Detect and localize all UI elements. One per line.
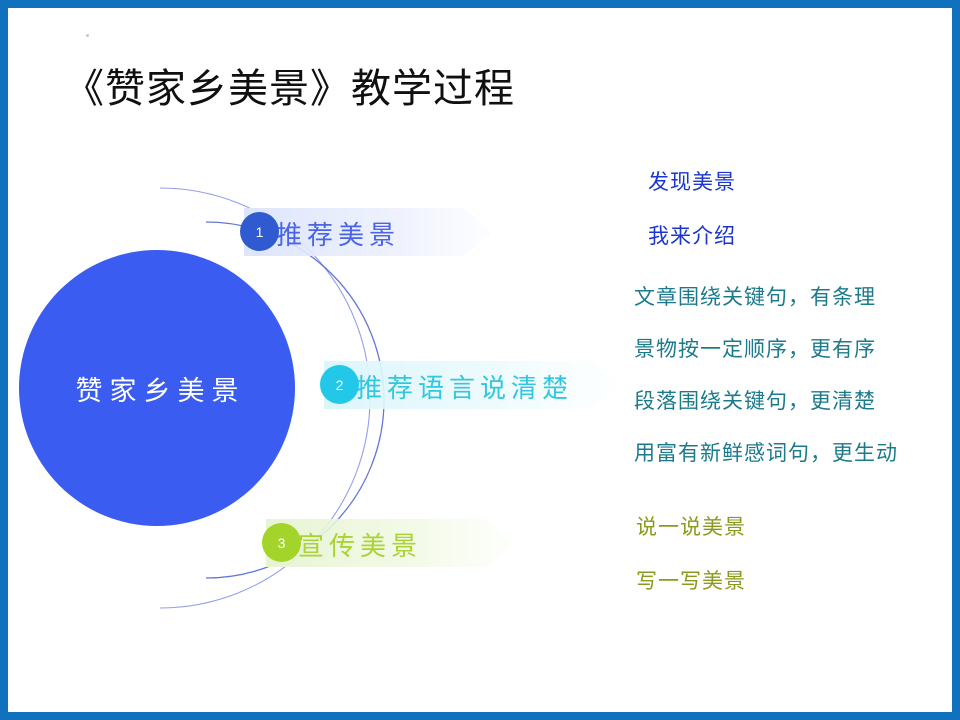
detail-group-3: 说一说美景 写一写美景 bbox=[636, 511, 746, 619]
step-label-1: 推荐美景 bbox=[276, 215, 400, 252]
detail-line: 景物按一定顺序，更有序 bbox=[634, 333, 898, 363]
center-circle-label: 赞家乡美景 bbox=[69, 369, 246, 408]
step-badge-1: 1 bbox=[240, 212, 279, 251]
detail-line: 用富有新鲜感词句，更生动 bbox=[634, 437, 898, 467]
detail-line: 段落围绕关键句，更清楚 bbox=[634, 385, 898, 415]
detail-line: 发现美景 bbox=[648, 166, 736, 196]
center-circle: 赞家乡美景 bbox=[19, 250, 295, 526]
step-label-2: 推荐语言说清楚 bbox=[356, 368, 573, 405]
step-number-3: 3 bbox=[278, 535, 286, 551]
slide-canvas: 《赞家乡美景》教学过程 赞家乡美景 1 推荐美景 bbox=[0, 0, 960, 720]
detail-group-1: 发现美景 我来介绍 bbox=[648, 166, 736, 274]
page-title: 《赞家乡美景》教学过程 bbox=[64, 56, 515, 114]
detail-line: 文章围绕关键句，有条理 bbox=[634, 281, 898, 311]
detail-line: 写一写美景 bbox=[636, 565, 746, 595]
title-decor-dot bbox=[86, 34, 89, 37]
step-number-2: 2 bbox=[336, 377, 344, 393]
step-banner-3[interactable]: 3 宣传美景 bbox=[262, 517, 522, 569]
detail-line: 说一说美景 bbox=[636, 511, 746, 541]
step-banner-2[interactable]: 2 推荐语言说清楚 bbox=[320, 359, 630, 411]
step-badge-3: 3 bbox=[262, 523, 301, 562]
step-number-1: 1 bbox=[256, 224, 264, 240]
detail-group-2: 文章围绕关键句，有条理 景物按一定顺序，更有序 段落围绕关键句，更清楚 用富有新… bbox=[634, 281, 898, 489]
step-label-3: 宣传美景 bbox=[298, 526, 422, 563]
step-banner-1[interactable]: 1 推荐美景 bbox=[240, 206, 500, 258]
step-badge-2: 2 bbox=[320, 365, 359, 404]
detail-line: 我来介绍 bbox=[648, 220, 736, 250]
